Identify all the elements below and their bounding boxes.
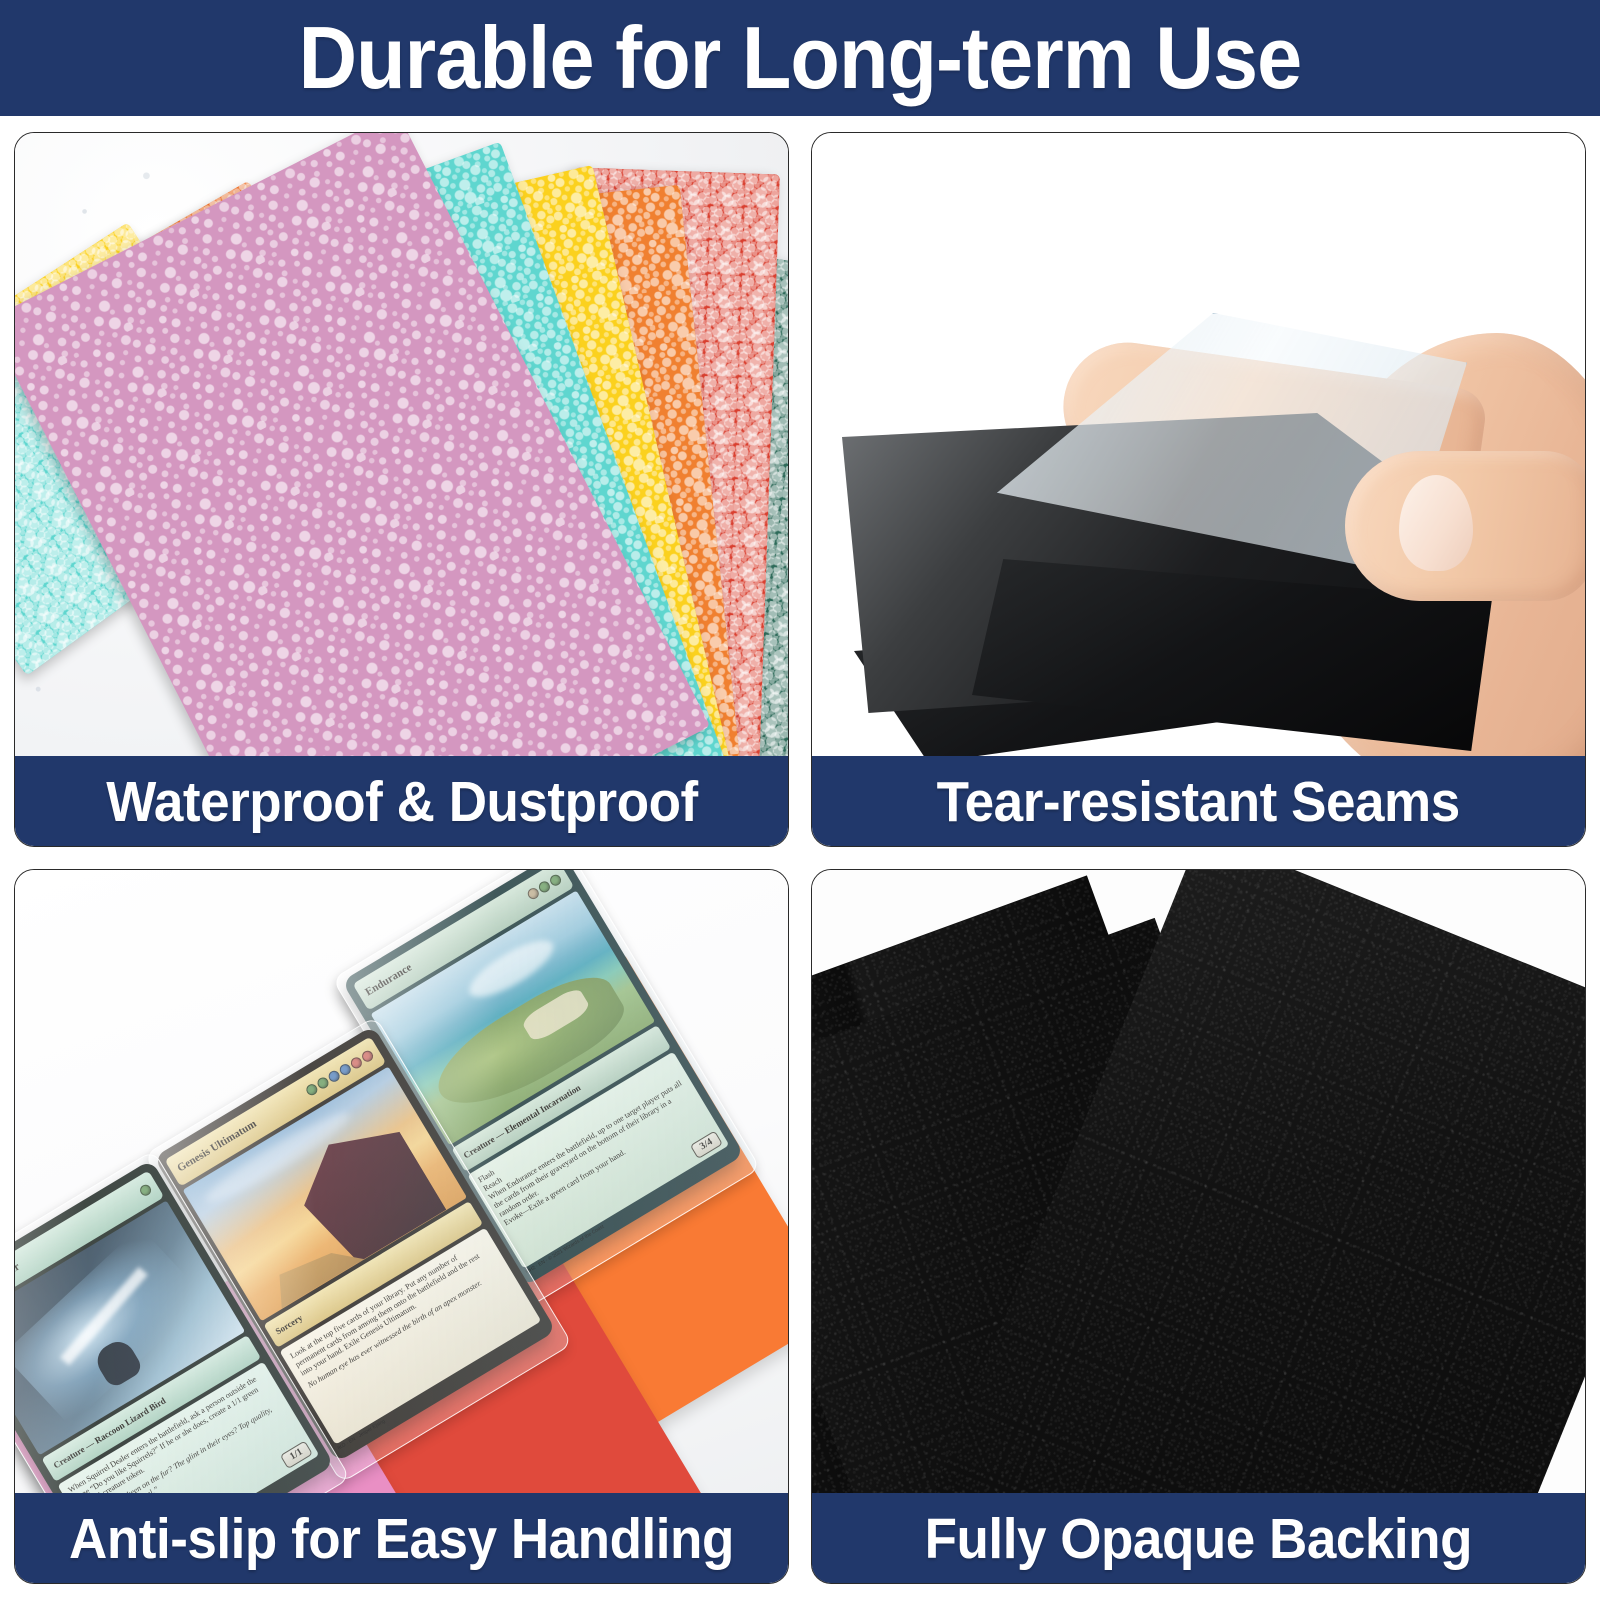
tear-resistant-photo (812, 133, 1585, 846)
product-infographic: Durable for Long-term Use (0, 0, 1600, 1600)
waterproof-photo (15, 133, 788, 846)
card-type-genesis: Sorcery (274, 1313, 305, 1337)
header-banner: Durable for Long-term Use (0, 0, 1600, 116)
feature-panel-anti-slip: Endurance (14, 869, 789, 1584)
caption-bar-opaque: Fully Opaque Backing (811, 1493, 1586, 1584)
opaque-backing-photo (812, 870, 1585, 1583)
feature-panel-opaque: Fully Opaque Backing (811, 869, 1586, 1584)
feature-panel-waterproof: Waterproof & Dustproof (14, 132, 789, 847)
page-title: Durable for Long-term Use (299, 14, 1302, 102)
caption-bar-anti-slip: Anti-slip for Easy Handling (14, 1493, 789, 1584)
anti-slip-photo: Endurance (15, 870, 788, 1583)
mana-cost-endurance (526, 872, 563, 900)
colored-sleeve-fan (15, 133, 788, 846)
caption-text-opaque: Fully Opaque Backing (925, 1511, 1472, 1568)
caption-text-waterproof: Waterproof & Dustproof (106, 774, 697, 831)
caption-bar-tear-resistant: Tear-resistant Seams (811, 756, 1586, 847)
caption-text-tear-resistant: Tear-resistant Seams (937, 774, 1460, 831)
mana-cost-squirrel (138, 1182, 153, 1197)
caption-text-anti-slip: Anti-slip for Easy Handling (69, 1511, 734, 1568)
feature-panel-tear-resistant: Tear-resistant Seams (811, 132, 1586, 847)
feature-panel-grid: Waterproof & Dustproof (14, 132, 1586, 1584)
caption-bar-waterproof: Waterproof & Dustproof (14, 756, 789, 847)
